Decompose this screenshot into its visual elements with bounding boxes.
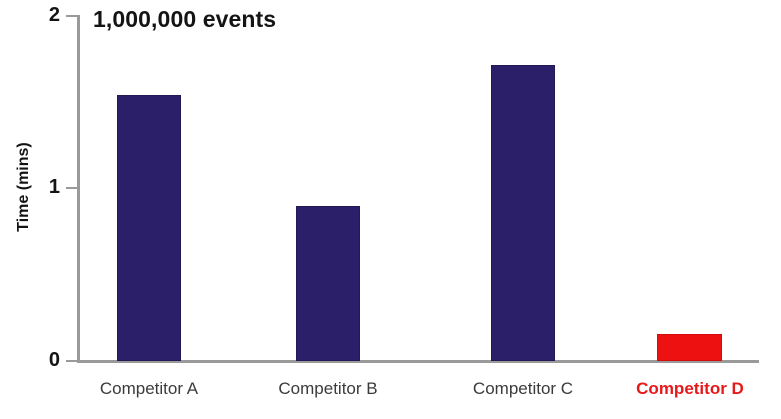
x-label-competitor-a: Competitor A	[81, 379, 217, 399]
bar-competitor-b	[296, 206, 360, 361]
bar-competitor-a	[117, 95, 181, 361]
x-label-competitor-d: Competitor D	[622, 379, 758, 399]
x-label-competitor-b: Competitor B	[260, 379, 396, 399]
bar-chart-screenshot: Time (mins) 1,000,000 events 2 1 0 Compe…	[0, 0, 781, 419]
bar-competitor-c	[491, 65, 555, 361]
plot-area	[0, 0, 781, 419]
x-label-competitor-c: Competitor C	[455, 379, 591, 399]
bar-competitor-d	[657, 334, 722, 361]
